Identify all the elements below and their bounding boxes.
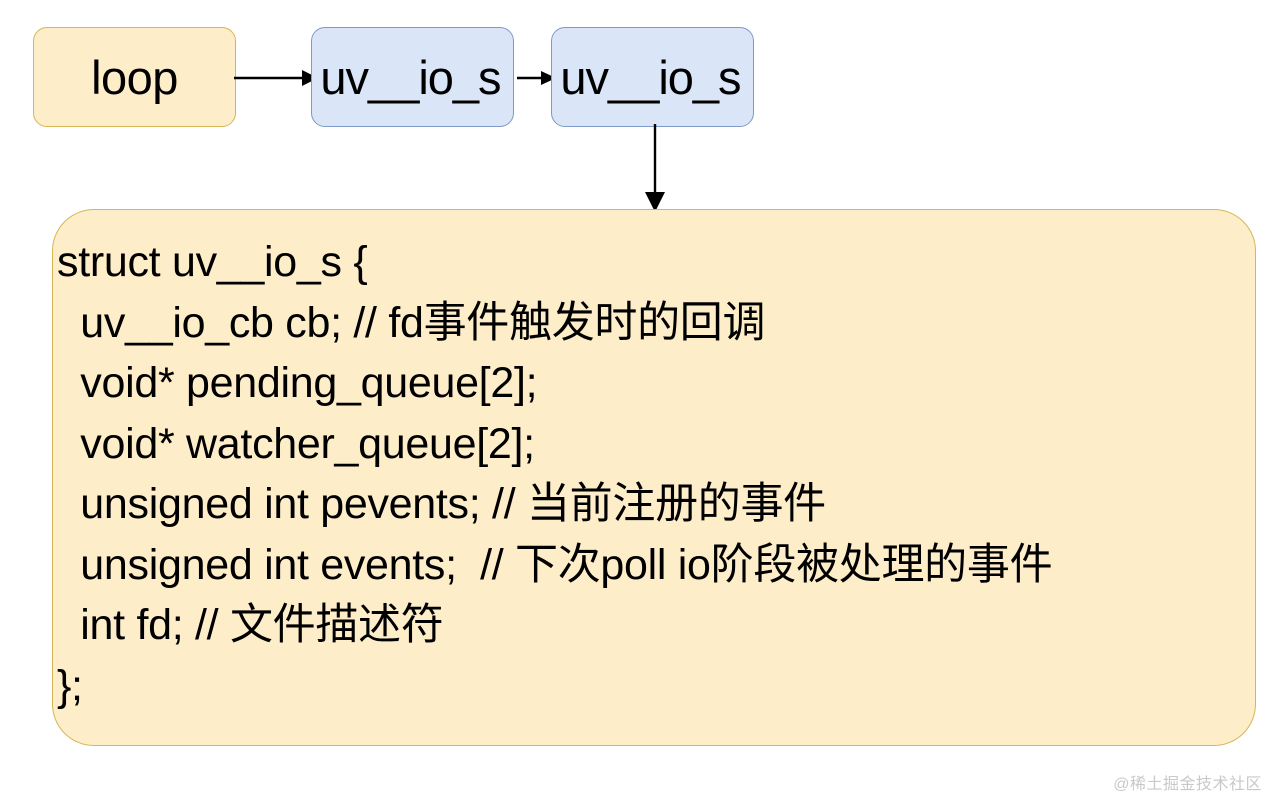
struct-definition-box: struct uv__io_s { uv__io_cb cb; // fd事件触… [52,209,1256,746]
code-line: }; [57,656,1229,717]
code-line: void* watcher_queue[2]; [57,414,1229,475]
node-loop-label: loop [91,54,178,101]
node-uv-io-s-2[interactable]: uv__io_s [551,27,754,127]
watermark: @稀土掘金技术社区 [1113,770,1262,794]
node-uv-io-s-1-label: uv__io_s [320,54,500,101]
code-line: void* pending_queue[2]; [57,353,1229,414]
arrow-io1-to-io2 [516,62,556,94]
arrow-loop-to-io1 [232,62,318,94]
code-line: struct uv__io_s { [57,232,1229,293]
code-line: int fd; // 文件描述符 [57,595,1229,656]
code-line: uv__io_cb cb; // fd事件触发时的回调 [57,293,1229,354]
node-uv-io-s-2-label: uv__io_s [560,54,740,101]
node-loop[interactable]: loop [33,27,236,127]
struct-code-block: struct uv__io_s { uv__io_cb cb; // fd事件触… [57,232,1229,716]
diagram-canvas: loop uv__io_s uv__io_s struct uv__io_s {… [0,0,1280,802]
arrow-io2-to-struct [634,124,676,214]
code-line: unsigned int events; // 下次poll io阶段被处理的事… [57,535,1229,596]
code-line: unsigned int pevents; // 当前注册的事件 [57,474,1229,535]
node-uv-io-s-1[interactable]: uv__io_s [311,27,514,127]
